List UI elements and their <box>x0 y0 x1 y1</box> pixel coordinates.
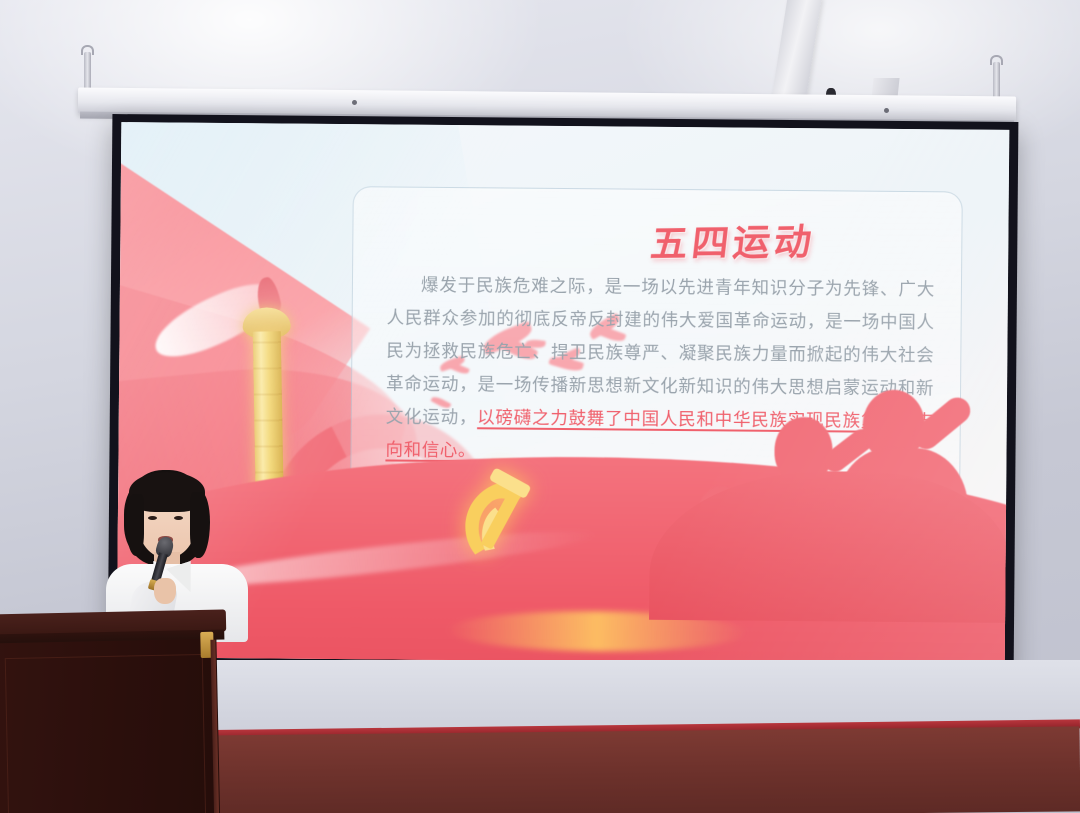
bracket-hook-icon <box>990 55 1003 65</box>
wooden-lectern <box>0 609 230 813</box>
presenter-eye-right <box>174 516 183 520</box>
hammer-and-sickle-emblem-icon <box>445 460 564 569</box>
bracket-hook-icon <box>81 45 94 55</box>
saluting-silhouettes-group <box>669 380 1001 613</box>
slide-title: 五四运动 <box>648 212 818 268</box>
presenter-sidelock-right <box>190 492 210 558</box>
screen-bracket-left <box>84 52 91 92</box>
presenter <box>96 470 261 630</box>
crowd-foreground-wave <box>649 470 1009 623</box>
housing-screw <box>352 100 357 105</box>
presenter-eye-left <box>148 516 157 520</box>
lectern-inset-panel <box>5 654 206 813</box>
presenter-sidelock-left <box>126 494 144 556</box>
presentation-scene: 五四运动 爆发于民族危难之际，是一场以先进青年知识分子为先锋、广大人民群众参加的… <box>0 0 1080 813</box>
housing-screw <box>884 108 889 113</box>
presenter-hand <box>154 578 176 604</box>
